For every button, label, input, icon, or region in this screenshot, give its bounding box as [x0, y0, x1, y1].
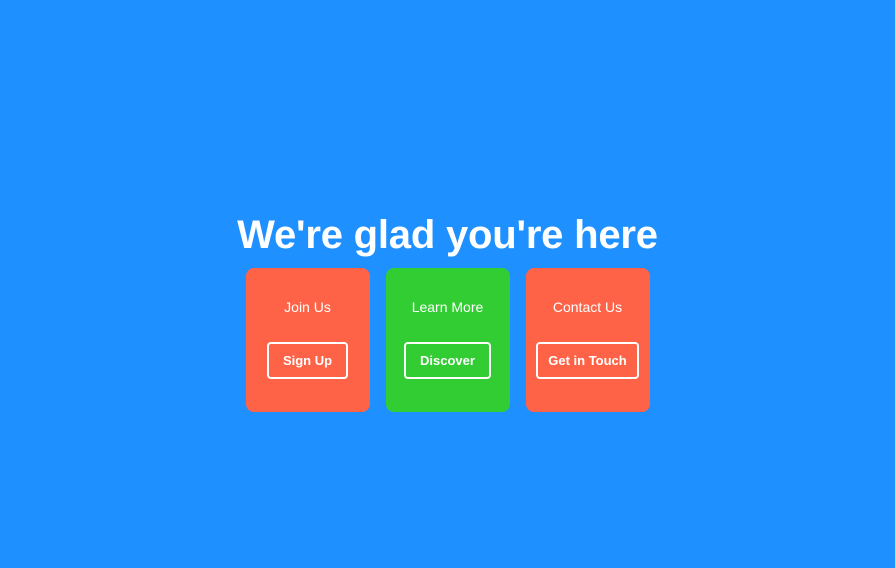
card-row: Join Us Sign Up Learn More Discover Cont… — [0, 268, 895, 412]
card-title: Learn More — [412, 298, 484, 316]
card-learn-more[interactable]: Learn More Discover — [386, 268, 510, 412]
get-in-touch-button[interactable]: Get in Touch — [536, 342, 638, 379]
discover-button[interactable]: Discover — [404, 342, 491, 379]
page-title: We're glad you're here — [0, 211, 895, 259]
card-contact-us[interactable]: Contact Us Get in Touch — [526, 268, 650, 412]
card-title: Contact Us — [553, 298, 622, 316]
page-root: We're glad you're here Join Us Sign Up L… — [0, 0, 895, 568]
card-join-us[interactable]: Join Us Sign Up — [246, 268, 370, 412]
sign-up-button[interactable]: Sign Up — [267, 342, 348, 379]
card-title: Join Us — [284, 298, 331, 316]
